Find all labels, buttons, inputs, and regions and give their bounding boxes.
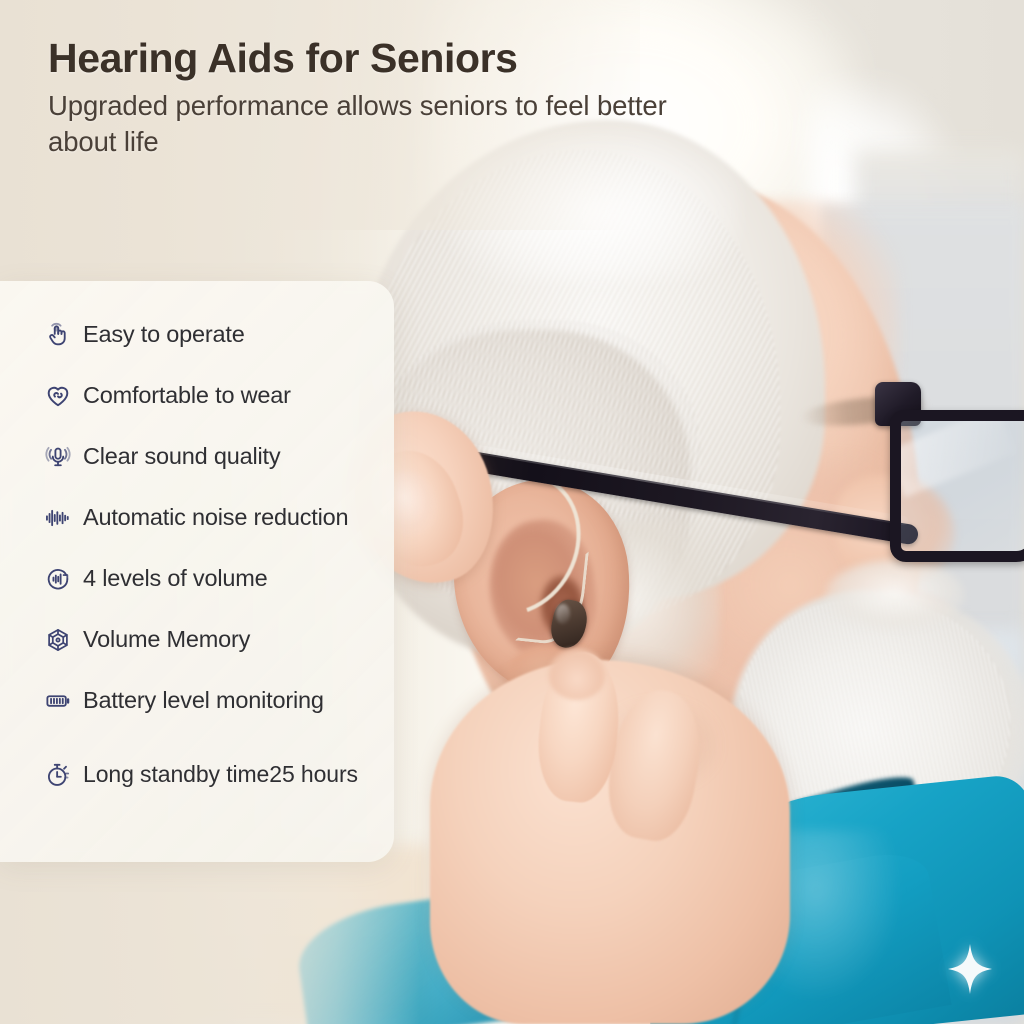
tap-hand-icon [44,321,71,348]
feature-item-automatic-noise-reduction: Automatic noise reduction [44,504,348,531]
feature-label: Long standby time25 hours [83,763,358,786]
feature-label: Easy to operate [83,323,245,347]
microphone-icon [44,443,71,470]
volume-circle-icon [44,565,71,592]
feature-item-clear-sound-quality: Clear sound quality [44,443,280,470]
lens-glare [890,410,1016,498]
feature-item-comfortable-to-wear: Comfortable to wear [44,382,291,409]
glasses-lens [890,410,1024,562]
network-hexagon-icon [44,626,71,653]
promo-banner: Hearing Aids for Seniors Upgraded perfor… [0,0,1024,1024]
header-block: Hearing Aids for Seniors Upgraded perfor… [48,38,668,160]
feature-label: Comfortable to wear [83,384,291,408]
sparkle-star-icon [948,944,992,994]
feature-item-battery-level-monitoring: Battery level monitoring [44,687,324,714]
feature-label: Automatic noise reduction [83,506,348,530]
stopwatch-icon [44,761,71,788]
feature-item-4-levels-of-volume: 4 levels of volume [44,565,268,592]
feature-label: Battery level monitoring [83,689,324,713]
sound-wave-icon [44,504,71,531]
page-title: Hearing Aids for Seniors [48,38,668,79]
heart-link-icon [44,382,71,409]
battery-icon [44,687,71,714]
feature-item-easy-to-operate: Easy to operate [44,321,245,348]
glasses-temple-highlight [424,436,909,526]
feature-list: Easy to operate Comfortable to wear [0,281,420,862]
feature-item-volume-memory: Volume Memory [44,626,250,653]
feature-item-long-standby-time: Long standby time25 hours [44,761,358,788]
feature-label: 4 levels of volume [83,567,268,591]
page-subtitle: Upgraded performance allows seniors to f… [48,88,668,160]
feature-label: Volume Memory [83,628,250,652]
index-fingertip [548,648,606,700]
feature-label: Clear sound quality [83,445,280,469]
